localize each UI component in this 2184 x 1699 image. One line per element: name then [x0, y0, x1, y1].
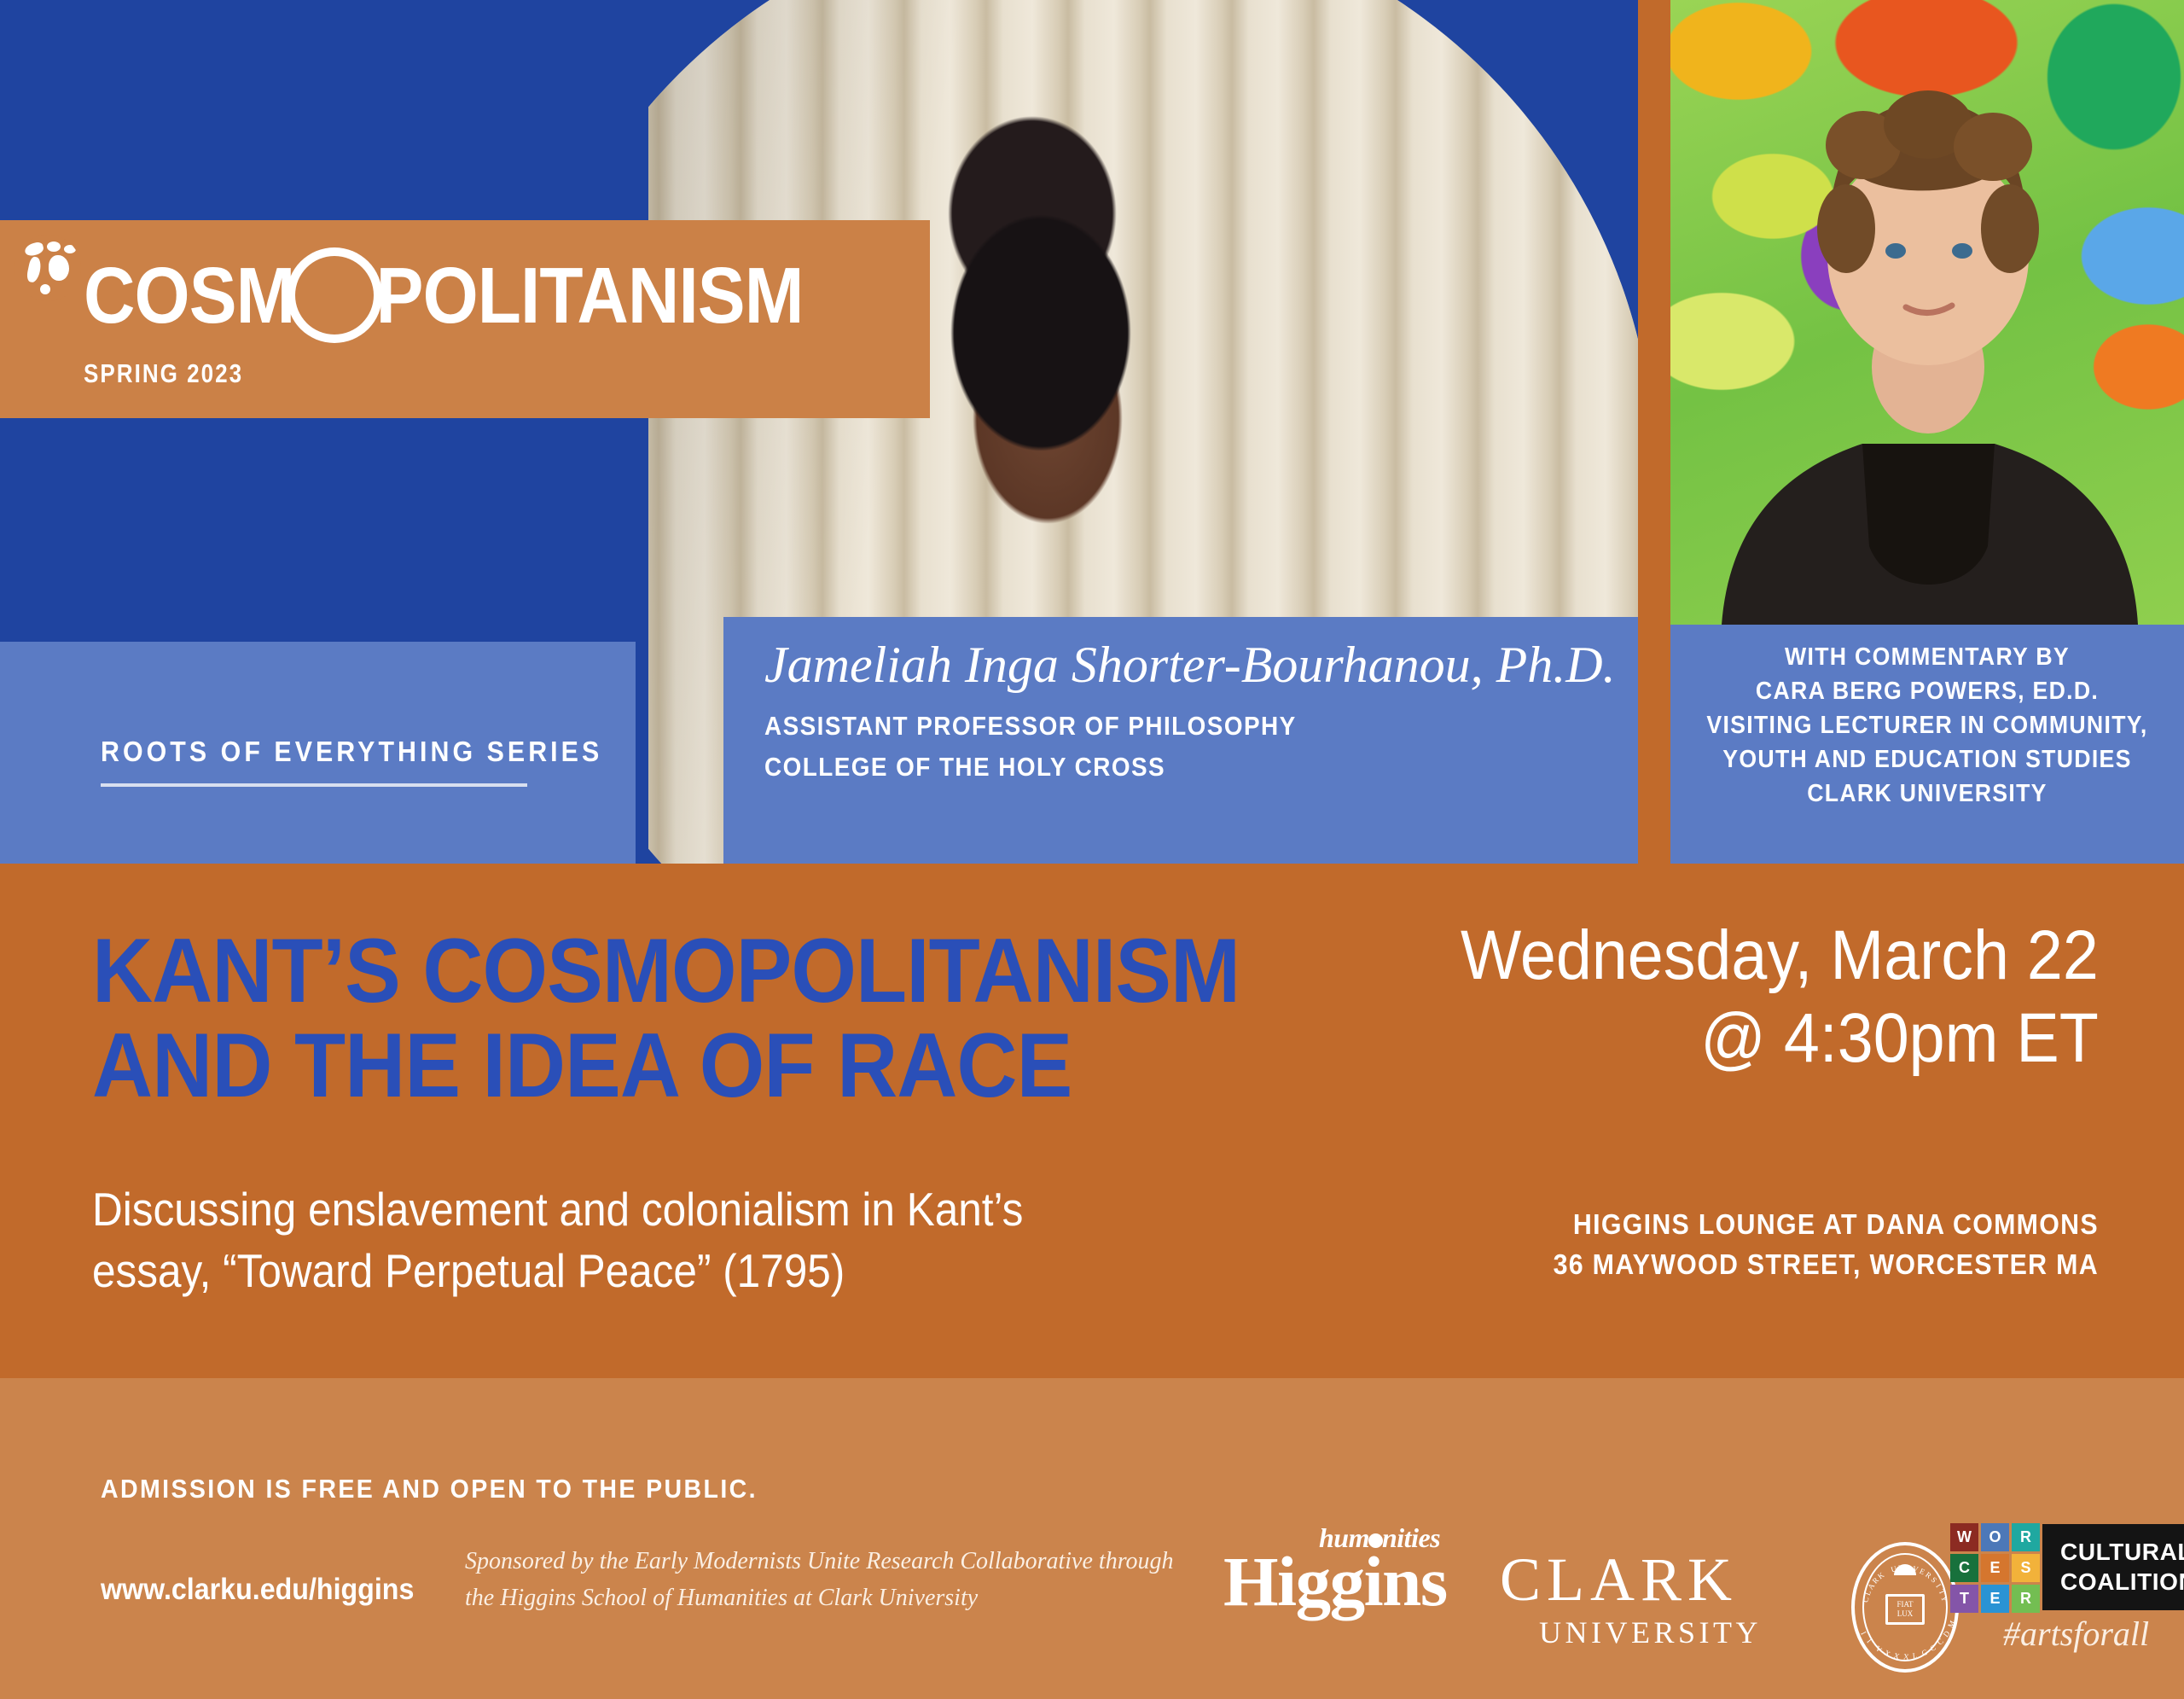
commentator-photo-cara — [1670, 0, 2184, 625]
event-venue-address: HIGGINS LOUNGE AT DANA COMMONS 36 MAYWOO… — [1554, 1205, 2099, 1285]
event-date-time: Wednesday, March 22 @ 4:30pm ET — [1461, 915, 2099, 1080]
photo-divider-strip — [1638, 0, 1670, 864]
event-title: KANT’S COSMOPOLITANISM AND THE IDEA OF R… — [92, 923, 1240, 1114]
worcester-letter-cell: C — [1950, 1554, 1978, 1582]
clark-university-logo: CLARK UNIVERSITY FIAT LUX CLARK UNIVERSI… — [1500, 1549, 1762, 1648]
commentator-affiliation: CLARK UNIVERSITY — [1691, 777, 2164, 811]
speaker-affiliation: COLLEGE OF THE HOLY CROSS — [764, 752, 1165, 783]
cosmopolitanism-logo: COSM POLITANISM — [84, 256, 883, 335]
series-name-label: ROOTS OF EVERYTHING SERIES — [101, 736, 602, 768]
worcester-letter-cell: R — [2012, 1523, 2040, 1551]
series-title-band: COSM POLITANISM SPRING 2023 — [0, 220, 930, 418]
commentator-title-line1: VISITING LECTURER IN COMMUNITY, — [1691, 708, 2164, 742]
worcester-letter-cell: E — [1981, 1554, 2009, 1582]
speaker-caption-panel: Jameliah Inga Shorter-Bourhanou, Ph.D. A… — [723, 617, 1638, 864]
worcester-letter-grid: WORCESTER — [1950, 1523, 2040, 1613]
clark-seal-ring-text: CLARK UNIVERSITYMDCCCLXXXVII — [1855, 1545, 1955, 1669]
cultural-coalition-block: CULTURAL COALITION — [2042, 1524, 2184, 1610]
cultural-coalition-line1: CULTURAL — [2060, 1538, 2184, 1567]
sponsor-credit: Sponsored by the Early Modernists Unite … — [465, 1543, 1174, 1617]
worcester-letter-cell: E — [1981, 1585, 2009, 1613]
globe-icon-continents — [15, 235, 81, 301]
worcester-letter-cell: T — [1950, 1585, 1978, 1613]
clark-wordmark: CLARK — [1500, 1549, 1762, 1610]
artsforall-hashtag: #artsforall — [2003, 1614, 2149, 1654]
commentator-intro: WITH COMMENTARY BY — [1691, 640, 2164, 674]
higgins-hum-prefix: hum — [1319, 1522, 1369, 1553]
higgins-humanities-logo: humnities Higgins — [1223, 1546, 1447, 1617]
speaker-name: Jameliah Inga Shorter-Bourhanou, Ph.D. — [764, 636, 1616, 695]
cosmopolitanism-logo-text: COSM POLITANISM — [84, 256, 804, 335]
commentator-name: CARA BERG POWERS, ED.D. — [1691, 674, 2164, 708]
worcester-letter-cell: O — [1981, 1523, 2009, 1551]
commentator-title-line2: YOUTH AND EDUCATION STUDIES — [1691, 742, 2164, 777]
cultural-coalition-line2: COALITION — [2060, 1568, 2184, 1597]
clark-university-subtext: UNIVERSITY — [1539, 1617, 1762, 1648]
globe-icon — [287, 247, 382, 343]
series-panel: ROOTS OF EVERYTHING SERIES — [0, 642, 636, 864]
higgins-wordmark: Higgins — [1223, 1546, 1447, 1617]
commentator-photo-figure — [1670, 0, 2184, 625]
event-poster: COSM POLITANISM SPRING 2023 ROOTS OF EVE… — [0, 0, 2184, 1699]
commentator-caption-panel: WITH COMMENTARY BY CARA BERG POWERS, ED.… — [1670, 625, 2184, 864]
higgins-humanities-wordmark: humnities — [1319, 1522, 1440, 1554]
series-underline — [101, 783, 527, 787]
event-details-region: KANT’S COSMOPOLITANISM AND THE IDEA OF R… — [0, 864, 2184, 1378]
higgins-dot-icon — [1368, 1533, 1383, 1548]
series-season-label: SPRING 2023 — [84, 358, 243, 389]
worcester-letter-cell: W — [1950, 1523, 1978, 1551]
speaker-title: ASSISTANT PROFESSOR OF PHILOSOPHY — [764, 711, 1297, 742]
event-description: Discussing enslavement and colonialism i… — [92, 1179, 1023, 1301]
admission-notice: ADMISSION IS FREE AND OPEN TO THE PUBLIC… — [101, 1474, 758, 1504]
worcester-letter-cell: R — [2012, 1585, 2040, 1613]
worcester-letter-cell: S — [2012, 1554, 2040, 1582]
higgins-hum-suffix: nities — [1382, 1522, 1440, 1553]
website-url[interactable]: www.clarku.edu/higgins — [101, 1573, 414, 1607]
clark-seal-icon: FIAT LUX CLARK UNIVERSITYMDCCCLXXXVII — [1851, 1542, 1959, 1673]
poster-header-region: COSM POLITANISM SPRING 2023 ROOTS OF EVE… — [0, 0, 2184, 864]
